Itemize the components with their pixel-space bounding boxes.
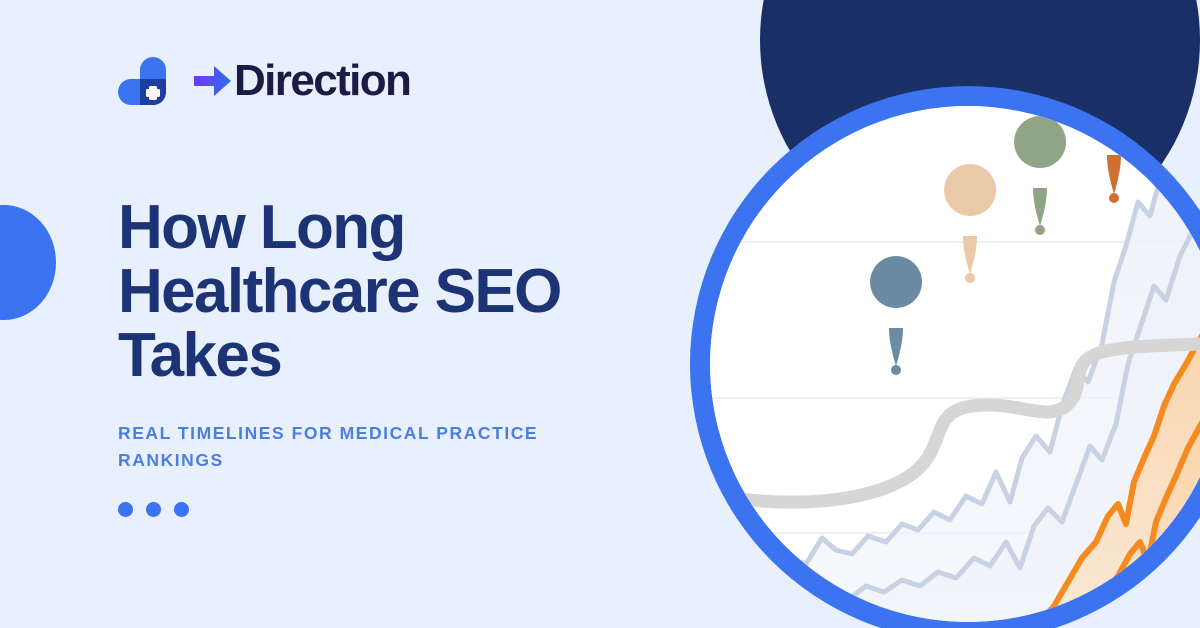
illustration-inner xyxy=(710,106,1200,622)
page-subtitle: REAL TIMELINES FOR MEDICAL PRACTICE RANK… xyxy=(118,420,618,474)
decorative-blue-circle-left xyxy=(0,205,56,320)
brand-logo[interactable]: Direction xyxy=(118,52,678,110)
right-arrow-icon xyxy=(194,64,232,98)
heart-pill-medical-cross-icon xyxy=(118,55,180,107)
dot-1 xyxy=(118,502,133,517)
decorative-dots xyxy=(118,502,678,517)
page-title: How Long Healthcare SEO Takes xyxy=(118,196,588,388)
content-column: Direction How Long Healthcare SEO Takes … xyxy=(118,0,678,628)
dot-3 xyxy=(174,502,189,517)
seo-journey-illustration xyxy=(710,106,1200,622)
illustration-circle xyxy=(690,86,1200,628)
dot-2 xyxy=(146,502,161,517)
poster-canvas: Direction How Long Healthcare SEO Takes … xyxy=(0,0,1200,628)
brand-name: Direction xyxy=(234,59,410,103)
brand-wordmark: Direction xyxy=(194,59,410,103)
